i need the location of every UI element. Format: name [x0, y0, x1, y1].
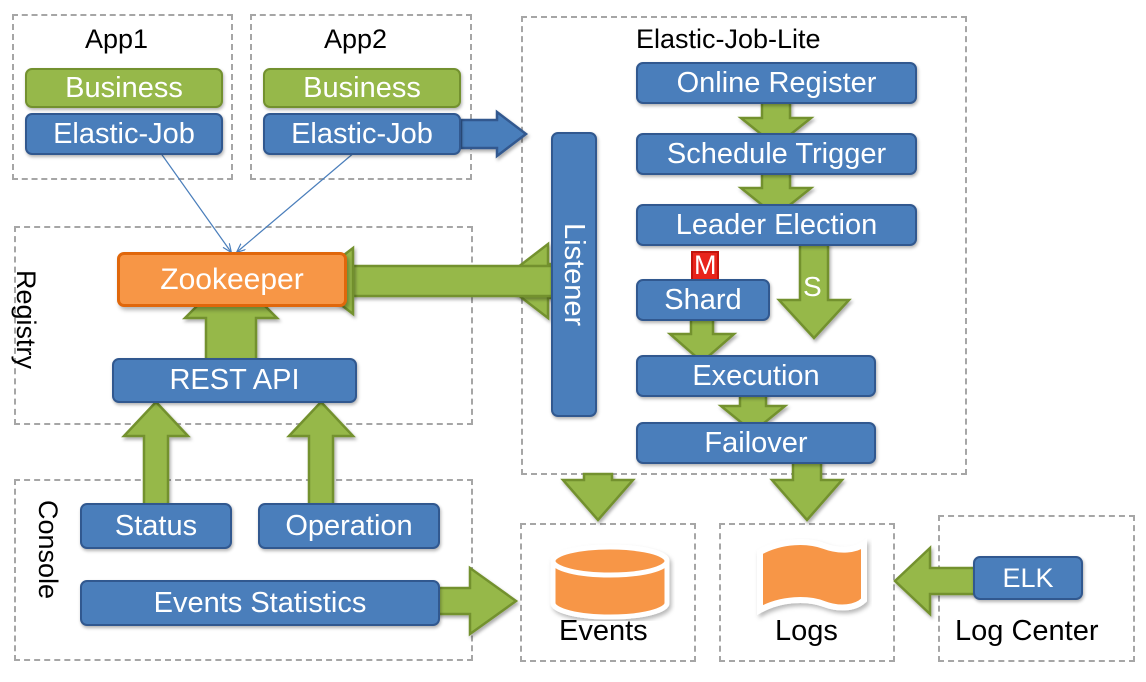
connector-app1-elasticjob-to-zookeeper: [160, 152, 231, 252]
node-failover[interactable]: Failover: [636, 422, 876, 464]
edge-label-slave: S: [803, 273, 822, 301]
node-status[interactable]: Status: [80, 503, 232, 549]
arrow-listener-stub: [353, 266, 552, 296]
node-operation[interactable]: Operation: [258, 503, 440, 549]
node-zookeeper[interactable]: Zookeeper: [117, 252, 347, 307]
arrow-elk-to-logs: [895, 548, 975, 614]
arrow-events-statistics-to-events: [436, 568, 516, 634]
arrow-operation-to-rest-api: [289, 402, 353, 508]
flag-wave-icon: [752, 538, 872, 622]
node-schedule-trigger[interactable]: Schedule Trigger: [636, 133, 917, 175]
node-app2-business[interactable]: Business: [263, 68, 461, 108]
node-listener[interactable]: Listener: [551, 132, 597, 417]
database-cylinder-icon: [545, 543, 675, 621]
node-elk[interactable]: ELK: [973, 556, 1083, 600]
arrow-status-to-rest-api: [124, 402, 188, 508]
diagram-canvas: App1 App2 Elastic-Job-Lite Registry Cons…: [0, 0, 1146, 682]
connector-app2-elasticjob-to-zookeeper: [237, 152, 355, 252]
node-app1-business[interactable]: Business: [25, 68, 223, 108]
arrow-elastic-job-lite-to-events: [563, 474, 633, 520]
node-events-statistics[interactable]: Events Statistics: [80, 580, 440, 626]
node-shard[interactable]: Shard: [636, 279, 770, 321]
node-leader-election[interactable]: Leader Election: [636, 204, 917, 246]
node-execution[interactable]: Execution: [636, 355, 876, 397]
node-online-register[interactable]: Online Register: [636, 62, 917, 104]
arrow-failover-to-logs: [772, 458, 842, 520]
edge-label-master: M: [694, 252, 717, 279]
arrow-app2-to-listener: [461, 112, 526, 156]
node-app1-elastic-job[interactable]: Elastic-Job: [25, 113, 223, 155]
node-rest-api[interactable]: REST API: [112, 358, 357, 403]
node-app2-elastic-job[interactable]: Elastic-Job: [263, 113, 461, 155]
